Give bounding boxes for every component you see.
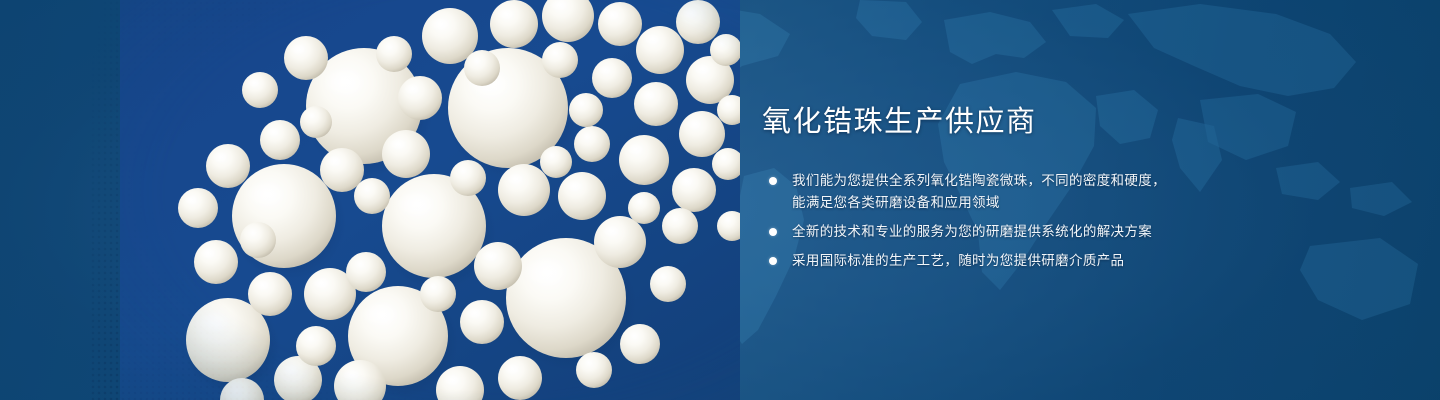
list-item: 全新的技术和专业的服务为您的研磨提供系统化的解决方案 bbox=[762, 221, 1232, 243]
page-title: 氧化锆珠生产供应商 bbox=[762, 104, 1232, 140]
list-item-line1: 全新的技术和专业的服务为您的研磨提供系统化的解决方案 bbox=[792, 224, 1152, 239]
banner-content: 氧化锆珠生产供应商 我们能为您提供全系列氧化锆陶瓷微珠，不同的密度和硬度， 能满… bbox=[762, 104, 1232, 279]
list-item: 采用国际标准的生产工艺，随时为您提供研磨介质产品 bbox=[762, 250, 1232, 272]
list-item-line1: 我们能为您提供全系列氧化锆陶瓷微珠，不同的密度和硬度， bbox=[792, 173, 1166, 188]
list-item: 我们能为您提供全系列氧化锆陶瓷微珠，不同的密度和硬度， 能满足您各类研磨设备和应… bbox=[762, 170, 1232, 214]
list-item-line1: 采用国际标准的生产工艺，随时为您提供研磨介质产品 bbox=[792, 253, 1124, 268]
zirconia-beads-image bbox=[120, 0, 740, 400]
hero-banner: 氧化锆珠生产供应商 我们能为您提供全系列氧化锆陶瓷微珠，不同的密度和硬度， 能满… bbox=[0, 0, 1440, 400]
bullet-dot-icon bbox=[769, 228, 777, 236]
bullet-dot-icon bbox=[769, 257, 777, 265]
list-item-line2: 能满足您各类研磨设备和应用领域 bbox=[792, 192, 1232, 214]
feature-list: 我们能为您提供全系列氧化锆陶瓷微珠，不同的密度和硬度， 能满足您各类研磨设备和应… bbox=[762, 170, 1232, 272]
bullet-dot-icon bbox=[769, 177, 777, 185]
